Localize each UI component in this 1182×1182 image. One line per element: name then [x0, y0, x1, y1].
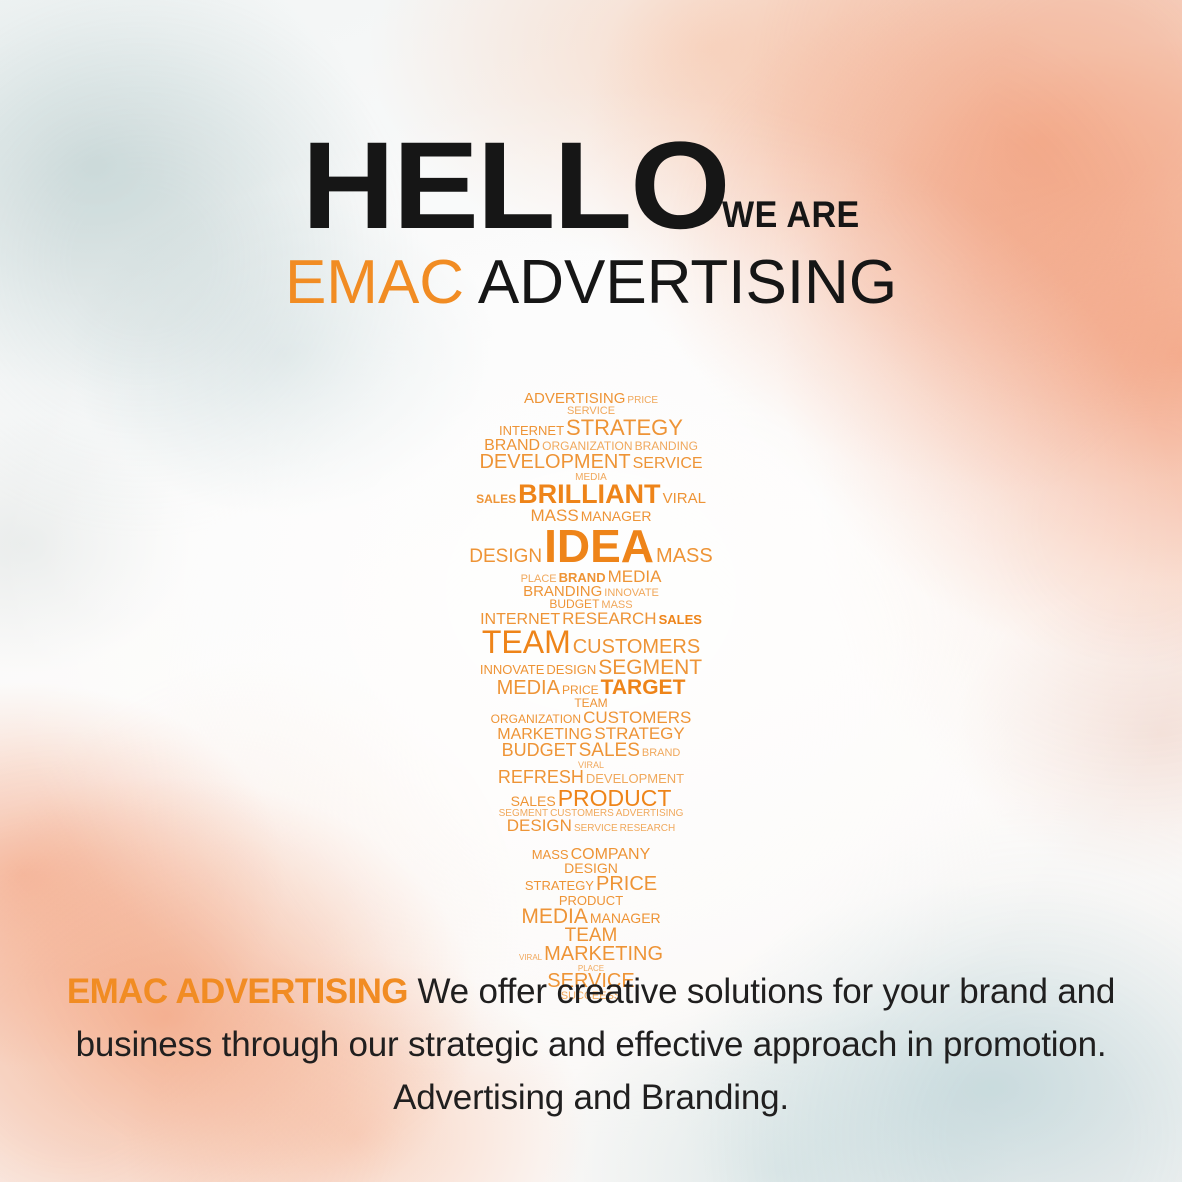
headline-row-company: EMAC ADVERTISING — [0, 247, 1182, 318]
word-cloud-word: INNOVATE — [603, 588, 660, 599]
word-cloud-word: PRODUCT — [557, 787, 673, 809]
word-cloud-line: TEAMCUSTOMERS — [457, 627, 725, 658]
word-cloud-line: DESIGN — [457, 862, 725, 875]
word-cloud-word: SERVICE — [632, 456, 704, 471]
word-cloud-word: MEDIA — [607, 569, 663, 585]
word-cloud-line: SEGMENTCUSTOMERSADVERTISING — [457, 809, 725, 819]
word-cloud-word: REFRESH — [497, 769, 585, 786]
word-cloud-word: INTERNET — [498, 425, 565, 437]
word-cloud-word: ADVERTISING — [523, 392, 626, 406]
word-cloud-word: SALES — [475, 494, 517, 506]
word-cloud-word: PRICE — [595, 875, 658, 894]
word-cloud-word: TEAM — [481, 627, 572, 658]
word-cloud-word: BUDGET — [501, 742, 578, 759]
lightbulb-word-cloud: ADVERTISINGPRICESERVICEINTERNETSTRATEGYB… — [0, 392, 1182, 1002]
word-cloud-line: INTERNETSTRATEGY — [457, 417, 725, 438]
company-brand-word: EMAC — [285, 248, 464, 317]
word-cloud-line: REFRESHDEVELOPMENT — [457, 769, 725, 786]
word-cloud-word: DESIGN — [506, 818, 573, 834]
headline-row-primary: HELLO WE ARE — [0, 134, 1182, 239]
word-cloud-line: DEVELOPMENTSERVICE — [457, 453, 725, 472]
word-cloud-line: VIRALMARKETING — [457, 945, 725, 964]
word-cloud-word: DEVELOPMENT — [585, 773, 685, 785]
word-cloud-word: BRAND — [641, 748, 682, 759]
word-cloud-word: ORGANIZATION — [490, 714, 582, 726]
word-cloud-word: RESEARCH — [619, 824, 677, 834]
word-cloud-word: BRANDING — [634, 441, 699, 453]
bulb-globe-words: ADVERTISINGPRICESERVICEINTERNETSTRATEGYB… — [457, 392, 725, 835]
blurb-brand-lead: EMAC ADVERTISING — [67, 972, 408, 1011]
word-cloud-word: INNOVATE — [479, 664, 546, 676]
word-cloud-word: RESEARCH — [561, 611, 657, 627]
word-cloud-word: VIRAL — [662, 492, 707, 506]
word-cloud-word: STRATEGY — [524, 880, 595, 892]
word-cloud-word: SALES — [578, 742, 641, 760]
word-cloud-word: MANAGER — [589, 912, 662, 925]
word-cloud-line: DESIGNIDEAMASS — [457, 524, 725, 568]
word-cloud-line: BUDGETSALESBRAND — [457, 742, 725, 760]
word-cloud-line: PRODUCT — [457, 895, 725, 907]
word-cloud-word: MEDIA — [520, 907, 589, 927]
word-cloud-word: VIRAL — [518, 954, 543, 962]
word-cloud-word: MARKETING — [543, 945, 664, 964]
word-cloud-line: ORGANIZATIONCUSTOMERS — [457, 710, 725, 726]
description-paragraph: EMAC ADVERTISING We offer creative solut… — [50, 965, 1132, 1125]
word-cloud-word: IDEA — [543, 524, 655, 568]
word-cloud-word: SALES — [658, 614, 703, 626]
word-cloud-line: SALESBRILLIANTVIRAL — [457, 482, 725, 508]
word-cloud-line: DESIGNSERVICERESEARCH — [457, 818, 725, 834]
word-cloud-word: CUSTOMERS — [572, 638, 701, 657]
word-cloud-word: DEVELOPMENT — [478, 453, 631, 472]
headline-block: HELLO WE ARE EMAC ADVERTISING — [0, 134, 1182, 318]
word-cloud-line: SALESPRODUCT — [457, 787, 725, 809]
word-cloud-word: SERVICE — [573, 824, 619, 834]
word-cloud-line: ADVERTISINGPRICE — [457, 392, 725, 406]
word-cloud-word: PRICE — [626, 396, 659, 406]
word-cloud-line: MEDIAMANAGER — [457, 907, 725, 927]
word-cloud-word: TARGET — [600, 678, 687, 698]
word-cloud-word: DESIGN — [468, 548, 543, 566]
word-cloud-word: BRILLIANT — [517, 482, 661, 508]
word-cloud-line: STRATEGYPRICE — [457, 875, 725, 894]
word-cloud-word: MASS — [655, 547, 714, 566]
word-cloud-word: PRICE — [561, 685, 600, 697]
hello-word: HELLO — [302, 134, 729, 239]
word-cloud-word: SEGMENT — [597, 658, 703, 678]
word-cloud-word: STRATEGY — [565, 417, 684, 438]
word-cloud-word: ADVERTISING — [615, 809, 685, 819]
word-cloud-line: INNOVATEDESIGNSEGMENT — [457, 658, 725, 678]
poster-canvas: HELLO WE ARE EMAC ADVERTISING ADVERTISIN… — [0, 0, 1182, 1182]
word-cloud-word: SALES — [510, 795, 557, 808]
company-suffix-word: ADVERTISING — [464, 248, 897, 317]
word-cloud-word: DESIGN — [545, 664, 597, 676]
we-are-label: WE ARE — [722, 199, 860, 239]
word-cloud-word: MEDIA — [496, 679, 561, 698]
word-cloud-line: MEDIAPRICETARGET — [457, 678, 725, 698]
